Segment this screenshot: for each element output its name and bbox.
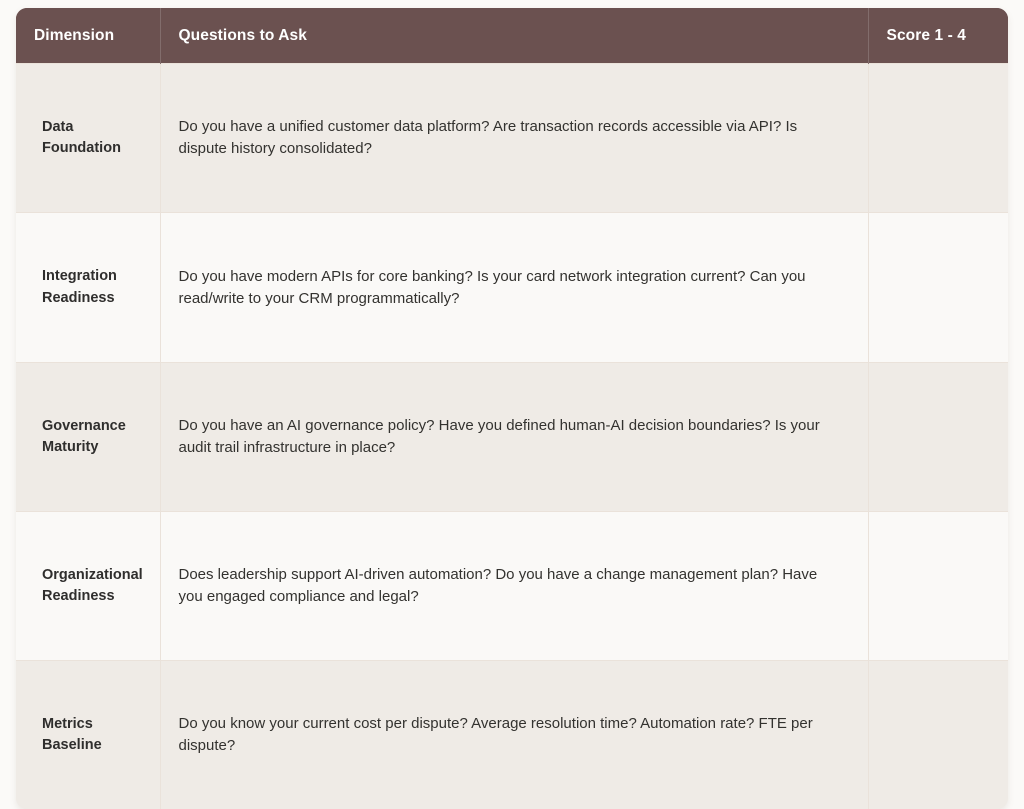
cell-dimension: Data Foundation [16,64,160,213]
cell-score[interactable] [868,512,1008,661]
cell-score[interactable] [868,363,1008,512]
table-row: Data Foundation Do you have a unified cu… [16,64,1008,213]
cell-questions: Do you have a unified customer data plat… [160,64,868,213]
cell-dimension: Metrics Baseline [16,661,160,809]
table-row: Organizational Readiness Does leadership… [16,512,1008,661]
table-header-row: Dimension Questions to Ask Score 1 - 4 [16,8,1008,64]
column-header-dimension: Dimension [16,8,160,64]
table-row: Metrics Baseline Do you know your curren… [16,661,1008,809]
cell-score[interactable] [868,213,1008,363]
table-head: Dimension Questions to Ask Score 1 - 4 [16,8,1008,64]
page-root: Dimension Questions to Ask Score 1 - 4 D… [0,0,1024,589]
assessment-table-card: Dimension Questions to Ask Score 1 - 4 D… [16,8,1008,809]
cell-score[interactable] [868,661,1008,809]
cell-questions: Do you know your current cost per disput… [160,661,868,809]
cell-score[interactable] [868,64,1008,213]
cell-questions: Do you have an AI governance policy? Hav… [160,363,868,512]
table-row: Governance Maturity Do you have an AI go… [16,363,1008,512]
assessment-table: Dimension Questions to Ask Score 1 - 4 D… [16,8,1008,809]
cell-questions: Do you have modern APIs for core banking… [160,213,868,363]
cell-dimension: Integration Readiness [16,213,160,363]
cell-dimension: Governance Maturity [16,363,160,512]
table-row: Integration Readiness Do you have modern… [16,213,1008,363]
table-body: Data Foundation Do you have a unified cu… [16,64,1008,809]
cell-questions: Does leadership support AI-driven automa… [160,512,868,661]
column-header-questions: Questions to Ask [160,8,868,64]
column-header-score: Score 1 - 4 [868,8,1008,64]
cell-dimension: Organizational Readiness [16,512,160,661]
